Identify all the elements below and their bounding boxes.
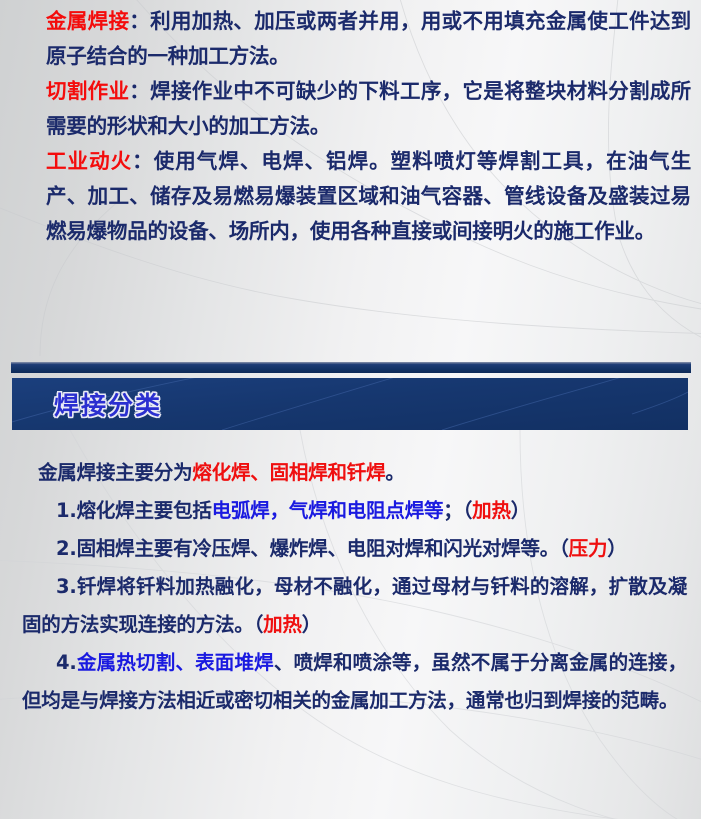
definition-separator: ： — [129, 79, 150, 103]
item-3-tag: 加热 — [263, 613, 302, 636]
item-2-part-a: 固相焊主要有冷压焊、爆炸焊、电阻对焊和闪光对焊等。 — [77, 537, 560, 560]
item-1-part-a: 熔化焊主要包括 — [77, 499, 212, 522]
classification-item-4: 4.金属热切割、表面堆焊、喷焊和喷涂等，虽然不属于分离金属的连接，但均是与焊接方… — [22, 644, 687, 720]
item-2-part-d: ） — [607, 537, 626, 560]
welding-classification-section: 焊接分类 金属焊接主要分为熔化焊、固相焊和钎焊。 1.熔化焊主要包括电弧焊，气焊… — [0, 378, 701, 819]
item-3-part-d: ） — [302, 613, 321, 636]
definition-paragraph-cutting-operation: 切割作业：焊接作业中不可缺少的下料工序，它是将整块材料分割成所需要的形状和大小的… — [46, 74, 691, 144]
definition-paragraph-industrial-hot-work: 工业动火：使用气焊、电焊、铝焊。塑料喷灯等焊割工具，在油气生产、加工、储存及易燃… — [46, 144, 691, 249]
item-1-part-c: ；（ — [443, 499, 472, 522]
definition-label-metal-welding: 金属焊接 — [46, 9, 129, 33]
item-4-part-b: 金属热切割、表面堆焊 — [77, 651, 274, 674]
section-banner: 焊接分类 — [12, 378, 688, 430]
definition-label-industrial-hot-work: 工业动火 — [46, 149, 132, 173]
classification-item-3: 3.钎焊将钎料加热融化，母材不融化，通过母材与钎料的溶解，扩散及凝固的方法实现连… — [22, 568, 687, 644]
classification-intro: 金属焊接主要分为熔化焊、固相焊和钎焊。 — [22, 454, 687, 492]
item-1-tag: 加热 — [472, 499, 511, 522]
classification-item-1: 1.熔化焊主要包括电弧焊，气焊和电阻点焊等；（加热） — [22, 492, 687, 530]
item-3-number: 3. — [56, 575, 77, 598]
definition-separator: ： — [132, 149, 154, 173]
definition-label-cutting-operation: 切割作业 — [46, 79, 129, 103]
definition-separator: ： — [129, 9, 150, 33]
definition-paragraph-metal-welding: 金属焊接：利用加热、加压或两者并用，用或不用填充金属使工件达到原子结合的一种加工… — [46, 4, 691, 74]
item-1-number: 1. — [56, 499, 77, 522]
intro-lead: 金属焊接主要分为 — [38, 461, 192, 484]
item-2-tag: 压力 — [569, 537, 608, 560]
classification-body: 金属焊接主要分为熔化焊、固相焊和钎焊。 1.熔化焊主要包括电弧焊，气焊和电阻点焊… — [22, 454, 687, 720]
item-2-part-c: （ — [559, 537, 569, 560]
item-2-number: 2. — [56, 537, 77, 560]
slide-canvas: 金属焊接：利用加热、加压或两者并用，用或不用填充金属使工件达到原子结合的一种加工… — [0, 0, 701, 819]
section-divider-bar — [11, 362, 691, 373]
item-1-part-d: ） — [511, 499, 530, 522]
item-1-part-b: 电弧焊，气焊和电阻点焊等 — [212, 499, 444, 522]
item-4-number: 4. — [56, 651, 77, 674]
section-banner-title: 焊接分类 — [54, 386, 162, 422]
classification-item-2: 2.固相焊主要有冷压焊、爆炸焊、电阻对焊和闪光对焊等。（压力） — [22, 530, 687, 568]
intro-highlight: 熔化焊、固相焊和钎焊 — [192, 461, 385, 484]
item-3-part-a: 钎焊将钎料加热融化，母材不融化，通过母材与钎料的溶解，扩散及凝固的方法实现连接的… — [22, 575, 687, 636]
definitions-section: 金属焊接：利用加热、加压或两者并用，用或不用填充金属使工件达到原子结合的一种加工… — [0, 0, 701, 356]
intro-tail: 。 — [385, 461, 404, 484]
